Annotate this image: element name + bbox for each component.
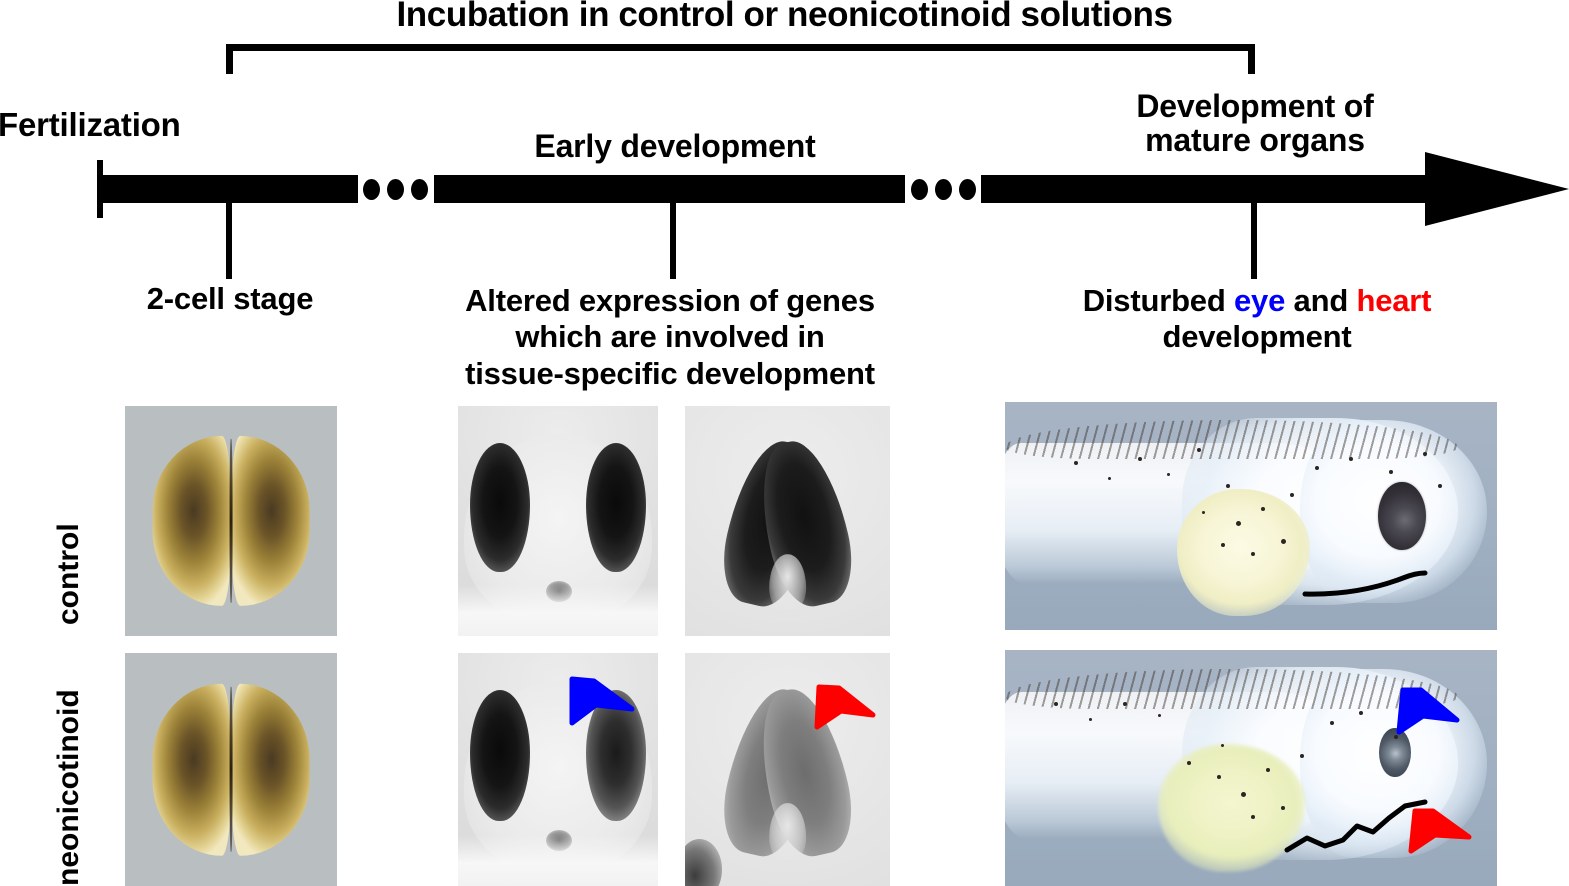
embryo-ventral-region <box>458 835 658 886</box>
heart-arrowhead-icon <box>1407 805 1475 855</box>
eye-arrowhead-icon <box>566 675 638 727</box>
figure-root: Incubation in control or neonicotinoid s… <box>0 0 1569 886</box>
timeline-tick-two-cell <box>226 203 232 279</box>
timeline-tick-gene-expression <box>670 203 676 279</box>
embryo-cleavage-furrow <box>230 439 233 602</box>
embryo-blastomere-right <box>230 683 309 855</box>
row-label-control: control <box>52 523 86 625</box>
eye-field-left <box>470 690 530 820</box>
caption-disturbed-middle: and <box>1285 283 1356 318</box>
caption-two-cell-stage: 2-cell stage <box>110 283 350 316</box>
embryo-body <box>153 436 310 606</box>
heart-field <box>712 438 864 604</box>
embryo-cleavage-furrow <box>230 687 233 853</box>
timeline-segment-2 <box>434 175 905 203</box>
embryo-blastomere-left <box>153 683 232 855</box>
caption-disturbed-prefix: Disturbed <box>1083 283 1234 318</box>
panel-neonicotinoid-eye-marker <box>458 653 658 886</box>
caption-disturbed-suffix: development <box>1162 319 1351 354</box>
panel-neonicotinoid-heart-marker <box>685 653 890 886</box>
caption-gene-expression: Altered expression of genes which are in… <box>405 283 935 392</box>
caption-eye-word: eye <box>1234 283 1285 318</box>
eye-field-left <box>470 443 530 572</box>
panel-control-heart-marker <box>685 406 890 636</box>
embryo-blastomere-left <box>153 436 232 606</box>
caption-heart-word: heart <box>1356 283 1431 318</box>
timeline-segment-3 <box>981 175 1438 203</box>
heart-contour-line <box>1005 402 1497 630</box>
stage-label-early-development: Early development <box>420 130 930 164</box>
caption-disturbed-development: Disturbed eye and heart development <box>1022 283 1492 356</box>
incubation-bracket <box>226 44 1255 74</box>
embryo-ventral-region <box>458 585 658 636</box>
timeline-segment-1 <box>100 175 358 203</box>
row-label-neonicotinoid: neonicotinoid <box>52 689 86 886</box>
heart-midline-notch <box>769 803 805 860</box>
figure-headline: Incubation in control or neonicotinoid s… <box>0 0 1569 33</box>
stage-label-mature-organs: Development of mature organs <box>1040 90 1470 158</box>
panel-control-tadpole <box>1005 402 1497 630</box>
panel-control-two-cell <box>125 406 337 636</box>
eye-arrowhead-icon <box>1393 686 1463 738</box>
panel-control-eye-marker <box>458 406 658 636</box>
heart-arrowhead-icon <box>813 683 879 731</box>
timeline-tick-mature-organs <box>1251 203 1257 279</box>
stage-label-fertilization: Fertilization <box>0 108 228 143</box>
embryo-blastomere-right <box>230 436 309 606</box>
embryo-body <box>153 683 310 855</box>
timeline-arrowhead-icon <box>1425 152 1569 226</box>
panel-neonicotinoid-tadpole <box>1005 650 1497 886</box>
eye-field-right <box>586 443 646 572</box>
panel-neonicotinoid-two-cell <box>125 653 337 886</box>
